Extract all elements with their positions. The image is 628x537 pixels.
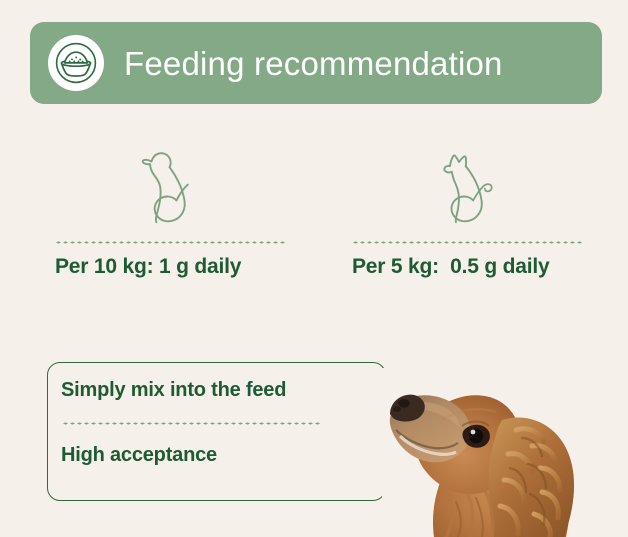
divider-dotted-benefits [62,422,320,425]
dog-photo [382,368,628,537]
feeding-column-cat: Per 5 kg: 0.5 g daily [352,140,584,279]
page-title: Feeding recommendation [124,47,503,80]
benefit-line-1: Simply mix into the feed [61,379,385,401]
feeding-recommendation-panel: Feeding recommendation Per 10 [0,0,628,537]
feeding-label-dog: Per 10 kg: 1 g daily [55,255,287,279]
benefits-box: Simply mix into the feed High acceptance [47,362,386,501]
divider-dotted-dog [55,241,287,244]
header-band: Feeding recommendation [30,22,602,104]
divider-dotted-cat [352,241,584,244]
feeding-label-cat: Per 5 kg: 0.5 g daily [352,255,584,279]
food-bowl-icon [48,35,104,91]
feeding-column-dog: Per 10 kg: 1 g daily [55,140,287,279]
benefit-line-2: High acceptance [61,444,385,466]
dog-icon [55,140,287,232]
cat-icon [352,140,584,232]
